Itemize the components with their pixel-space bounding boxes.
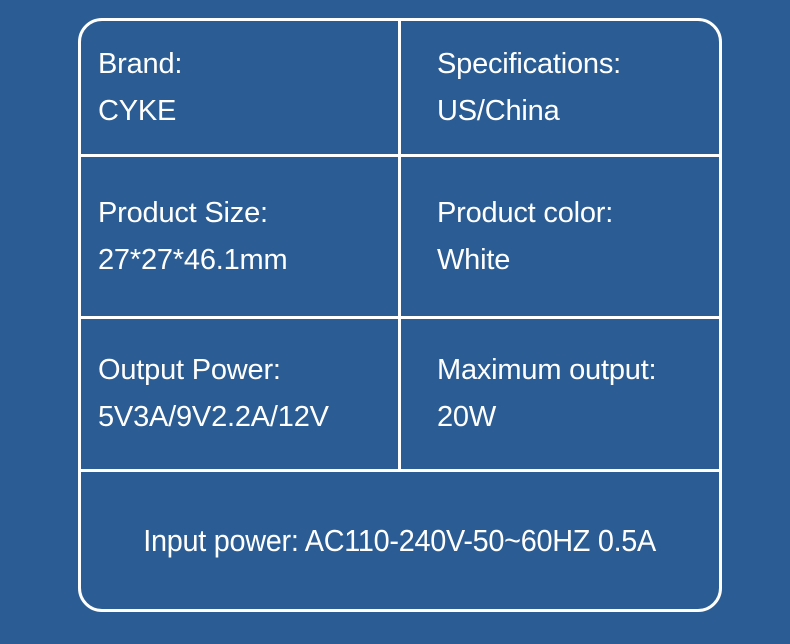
- spec-cell-specifications: Specifications: US/China: [401, 21, 719, 154]
- spec-label: Brand:: [98, 41, 388, 88]
- spec-cell-brand: Brand: CYKE: [81, 21, 401, 154]
- spec-label: Maximum output:: [437, 347, 709, 394]
- spec-label: Product Size:: [98, 190, 388, 237]
- product-specification-table: Brand: CYKE Specifications: US/China Pro…: [78, 18, 722, 612]
- spec-value: CYKE: [98, 88, 388, 135]
- spec-value: US/China: [437, 88, 709, 135]
- spec-cell-product-size: Product Size: 27*27*46.1mm: [81, 157, 401, 316]
- spec-cell-product-color: Product color: White: [401, 157, 719, 316]
- spec-value: 20W: [437, 394, 709, 441]
- table-row: Output Power: 5V3A/9V2.2A/12V Maximum ou…: [81, 319, 719, 472]
- spec-value: 5V3A/9V2.2A/12V: [98, 394, 388, 441]
- table-row-input-power: Input power: AC110-240V-50~60HZ 0.5A: [81, 472, 719, 609]
- table-row: Product Size: 27*27*46.1mm Product color…: [81, 157, 719, 319]
- spec-label: Specifications:: [437, 41, 709, 88]
- spec-label: Product color:: [437, 190, 709, 237]
- table-row: Brand: CYKE Specifications: US/China: [81, 21, 719, 157]
- input-power-text: Input power: AC110-240V-50~60HZ 0.5A: [144, 521, 657, 561]
- spec-cell-maximum-output: Maximum output: 20W: [401, 319, 719, 469]
- spec-label: Output Power:: [98, 347, 388, 394]
- spec-cell-input-power: Input power: AC110-240V-50~60HZ 0.5A: [81, 472, 719, 609]
- spec-value: White: [437, 237, 709, 284]
- spec-value: 27*27*46.1mm: [98, 237, 388, 284]
- spec-cell-output-power: Output Power: 5V3A/9V2.2A/12V: [81, 319, 401, 469]
